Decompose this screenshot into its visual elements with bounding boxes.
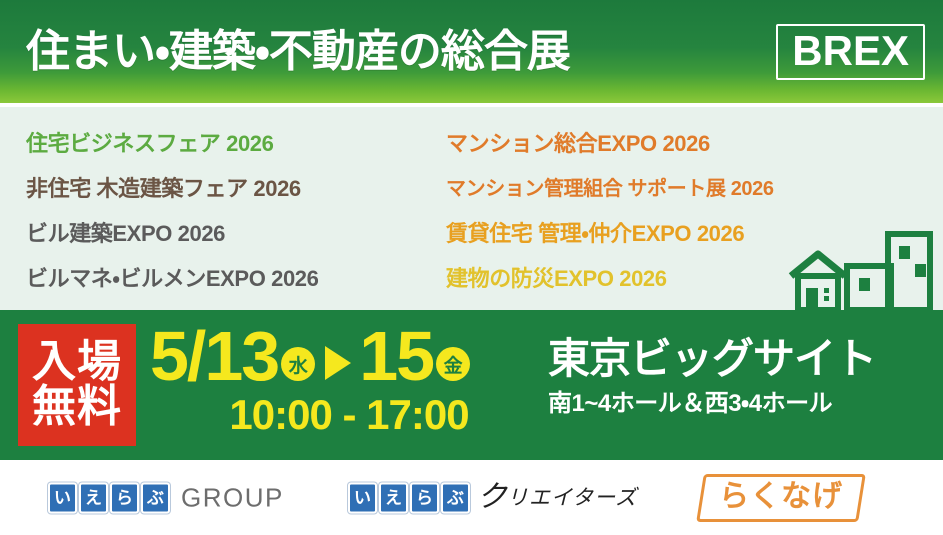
event-name-6[interactable]: マンション管理組合 サポート展 2026 bbox=[446, 166, 936, 211]
page-title: 住まい・建築・不動産の総合展 bbox=[26, 30, 570, 74]
kana-e-2: え bbox=[379, 482, 408, 513]
free-admission-badge: 入場 無料 bbox=[18, 324, 136, 446]
brex-logo: BREX bbox=[776, 24, 925, 80]
group-label: GROUP bbox=[181, 485, 284, 511]
event-date-block: 5/13 水 15 金 10:00 - 17:00 bbox=[150, 320, 530, 436]
event-column-left: 住宅ビジネスフェア 2026 非住宅 木造建築フェア 2026 ビル建築EXPO… bbox=[26, 121, 436, 301]
date-venue-banner: 入場 無料 5/13 水 15 金 10:00 - 17:00 東京ビッグサイト… bbox=[0, 310, 943, 460]
logo-ielove-group[interactable]: い え ら ぶ GROUP bbox=[48, 482, 284, 513]
venue-block: 東京ビッグサイト 南1~4ホール＆西3・4ホール bbox=[548, 338, 938, 416]
date-row: 5/13 水 15 金 bbox=[150, 320, 530, 392]
event-name-2[interactable]: 非住宅 木造建築フェア 2026 bbox=[26, 166, 436, 211]
event-name-3[interactable]: ビル建築EXPO 2026 bbox=[26, 211, 436, 256]
buildings-house-icon bbox=[785, 228, 935, 310]
event-hours: 10:00 - 17:00 bbox=[150, 394, 530, 436]
date-end-weekday-badge: 金 bbox=[436, 347, 470, 381]
kana-i: い bbox=[48, 482, 77, 513]
logo-ielove-creators[interactable]: い え ら ぶ ク リエイターズ bbox=[348, 482, 637, 513]
venue-name: 東京ビッグサイト bbox=[548, 338, 938, 380]
date-start: 5/13 bbox=[150, 321, 278, 391]
event-name-4[interactable]: ビルマネ・ビルメンEXPO 2026 bbox=[26, 256, 436, 301]
date-end: 15 bbox=[359, 321, 433, 391]
rakunage-box: らくなげ bbox=[696, 474, 866, 522]
kana-ra: ら bbox=[110, 482, 139, 513]
kana-bu-2: ぶ bbox=[441, 482, 470, 513]
date-start-weekday-badge: 水 bbox=[281, 347, 315, 381]
sponsor-footer: い え ら ぶ GROUP い え ら ぶ ク リエイターズ らくなげ bbox=[0, 460, 943, 535]
kana-i-2: い bbox=[348, 482, 377, 513]
creators-label: リエイターズ bbox=[507, 487, 637, 508]
ielove-kana-mark: い え ら ぶ bbox=[48, 482, 170, 513]
rakunage-label: らくなげ bbox=[719, 482, 843, 512]
creators-brush-mark: ク bbox=[477, 483, 507, 513]
venue-halls: 南1~4ホール＆西3・4ホール bbox=[548, 392, 938, 416]
brex-logo-text: BREX bbox=[792, 30, 909, 72]
free-badge-line2: 無料 bbox=[32, 385, 122, 430]
kana-e: え bbox=[79, 482, 108, 513]
poster-header: 住まい・建築・不動産の総合展 BREX bbox=[0, 0, 943, 103]
event-poster: 住まい・建築・不動産の総合展 BREX 住宅ビジネスフェア 2026 非住宅 木… bbox=[0, 0, 943, 535]
kana-bu: ぶ bbox=[141, 482, 170, 513]
date-range-arrow-icon bbox=[325, 346, 351, 380]
ielove-kana-mark-2: い え ら ぶ bbox=[348, 482, 470, 513]
logo-rakunage[interactable]: らくなげ bbox=[700, 474, 862, 522]
kana-ra-2: ら bbox=[410, 482, 439, 513]
free-badge-line1: 入場 bbox=[32, 340, 122, 385]
event-name-1[interactable]: 住宅ビジネスフェア 2026 bbox=[26, 121, 436, 166]
event-name-5[interactable]: マンション総合EXPO 2026 bbox=[446, 121, 936, 166]
event-list-section: 住宅ビジネスフェア 2026 非住宅 木造建築フェア 2026 ビル建築EXPO… bbox=[0, 107, 943, 310]
